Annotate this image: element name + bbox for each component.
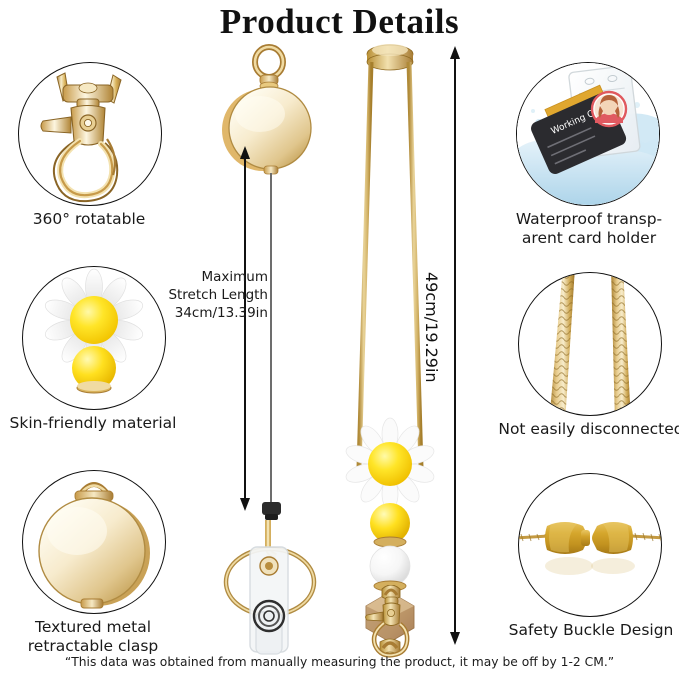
reel-product-illustration: [208, 42, 338, 657]
daisy-lanyard-product: [340, 36, 460, 656]
product-details-infographic: Product Details: [0, 0, 679, 680]
retractable-badge-reel-product: [208, 42, 338, 657]
feature-waterproof-circle: Working Card: [516, 62, 660, 206]
feature-waterproof-card-holder: Working Card Waterproof transp- arent: [516, 62, 660, 206]
safety-buckle-icon: [519, 474, 661, 616]
feature-not-disconnected-circle: [518, 272, 662, 416]
feature-rotatable-circle: [18, 62, 162, 206]
feature-skin-friendly: Skin-friendly material: [22, 266, 166, 410]
lobster-clasp-icon: [19, 63, 161, 205]
arrow-head-down-icon: [240, 498, 250, 511]
braided-cord-icon: [519, 273, 661, 415]
feature-skin-friendly-circle: [22, 266, 166, 410]
feature-textured-clasp-label: Textured metal retractable clasp: [0, 618, 190, 656]
lanyard-dimension-line: [454, 56, 456, 634]
lanyard-length-label: 49cm/19.29in: [422, 272, 441, 383]
feature-skin-friendly-label: Skin-friendly material: [0, 414, 190, 433]
arrow-head-down-icon: [450, 632, 460, 645]
feature-not-disconnected: Not easily disconnected: [518, 272, 662, 416]
lanyard-product-illustration: [340, 36, 460, 656]
waterproof-card-holder-icon: Working Card: [517, 63, 659, 205]
lanyard-lobster-clasp-icon: [355, 585, 450, 660]
stretch-dimension-line: [244, 156, 246, 500]
feature-safety-buckle-label: Safety Buckle Design: [496, 621, 679, 640]
metal-disc-icon: [23, 471, 165, 613]
feature-waterproof-label: Waterproof transp- arent card holder: [494, 210, 679, 248]
feature-not-disconnected-label: Not easily disconnected: [496, 420, 679, 439]
feature-textured-clasp-circle: [22, 470, 166, 614]
feature-safety-buckle-circle: [518, 473, 662, 617]
measurement-disclaimer: “This data was obtained from manually me…: [0, 655, 679, 669]
stretch-length-label: Maximum Stretch Length 34cm/13.39in: [148, 268, 268, 322]
daisy-bead-icon: [23, 267, 165, 409]
feature-rotatable-label: 360° rotatable: [0, 210, 186, 229]
feature-textured-clasp: Textured metal retractable clasp: [22, 470, 166, 614]
feature-safety-buckle: Safety Buckle Design: [518, 473, 662, 617]
feature-rotatable: 360° rotatable: [18, 62, 162, 206]
